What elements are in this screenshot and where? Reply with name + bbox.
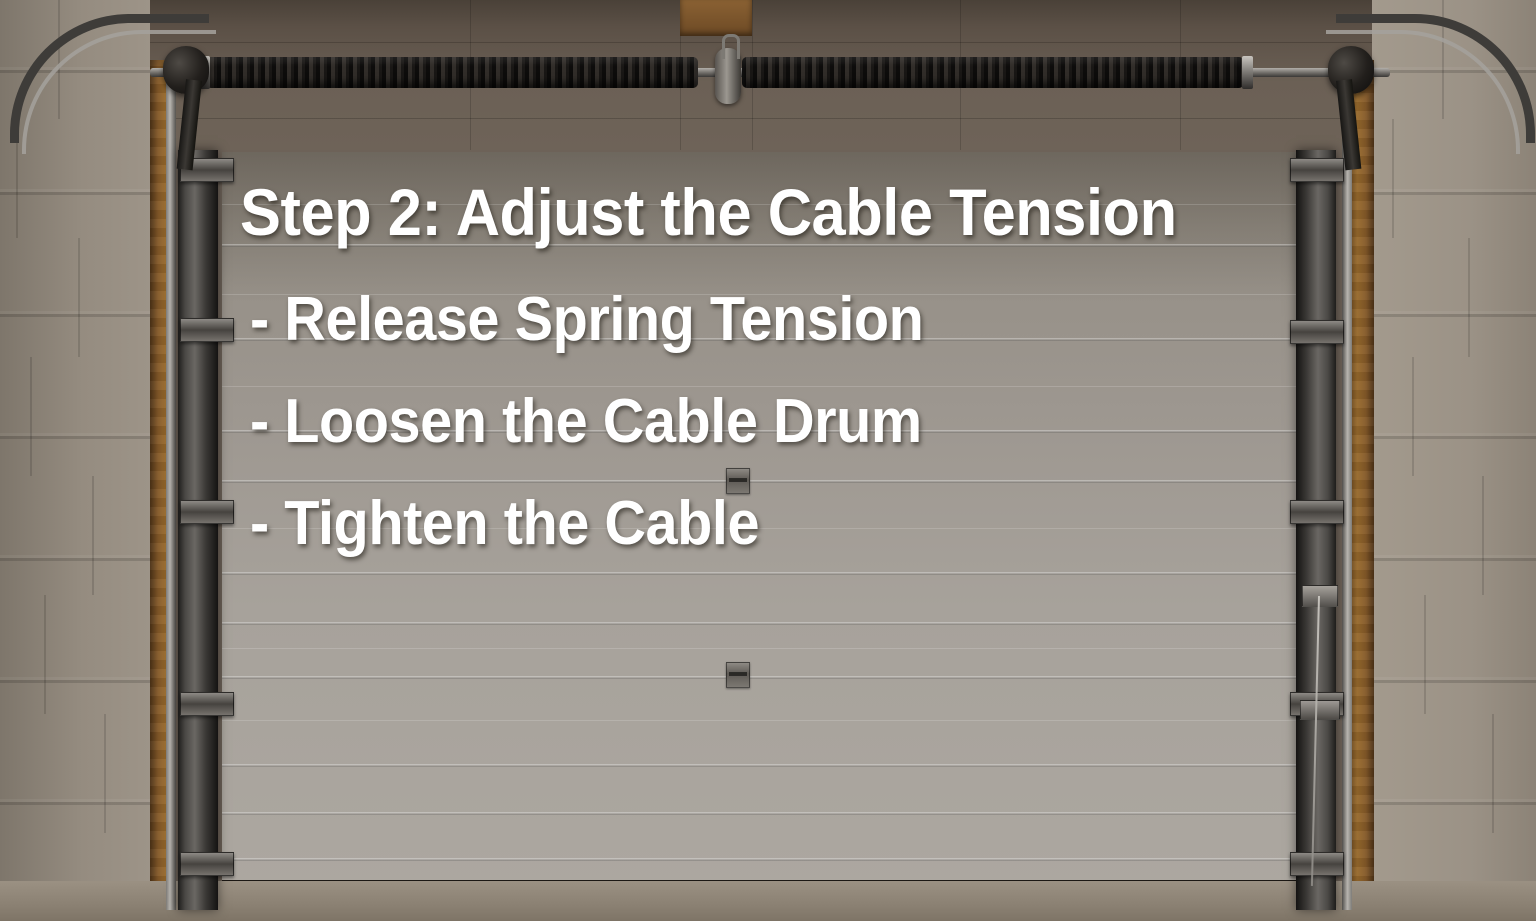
step-title: Step 2: Adjust the Cable Tension — [240, 176, 1177, 248]
instruction-bullet-2: - Loosen the Cable Drum — [250, 388, 922, 456]
instruction-text-overlay: Step 2: Adjust the Cable Tension - Relea… — [0, 0, 1536, 921]
garage-door-scene: Step 2: Adjust the Cable Tension - Relea… — [0, 0, 1536, 921]
instruction-bullet-1: - Release Spring Tension — [250, 286, 923, 354]
instruction-bullet-3: - Tighten the Cable — [250, 490, 759, 558]
